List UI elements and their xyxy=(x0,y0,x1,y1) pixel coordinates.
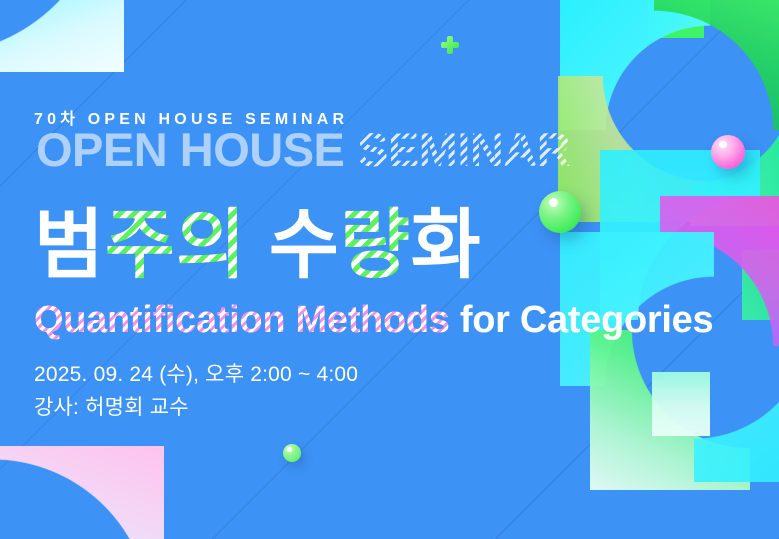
detail-instructor: 강사: 허명회 교수 xyxy=(34,391,358,424)
detail-datetime: 2025. 09. 24 (수), 오후 2:00 ~ 4:00 xyxy=(34,358,358,391)
wordmark: OPEN HOUSE SEMINAR xyxy=(36,126,570,173)
seminar-details: 2025. 09. 24 (수), 오후 2:00 ~ 4:00 강사: 허명회… xyxy=(34,358,358,424)
headline-en-solid: for Categories xyxy=(450,299,714,341)
headline-ko-striped-1: 주의 xyxy=(105,203,247,288)
seminar-poster: 70차 OPEN HOUSE SEMINAR OPEN HOUSE SEMINA… xyxy=(0,0,779,539)
wordmark-striped: SEMINAR xyxy=(357,123,570,176)
poster-content: 70차 OPEN HOUSE SEMINAR OPEN HOUSE SEMINA… xyxy=(34,0,734,539)
wordmark-space xyxy=(344,123,357,176)
headline-ko-solid-2: 수 xyxy=(269,203,340,288)
headline-korean: 범주의 수량화 xyxy=(34,208,482,284)
wordmark-solid: OPEN HOUSE xyxy=(36,123,344,176)
headline-english: Quantification Methods for Categories xyxy=(34,301,713,339)
headline-ko-solid-3: 화 xyxy=(411,203,482,288)
headline-en-striped: Quantification Methods xyxy=(34,299,450,341)
headline-ko-solid-1: 범 xyxy=(34,203,105,288)
headline-ko-space xyxy=(247,203,269,288)
rosette-petal-right-wedge xyxy=(742,250,779,320)
headline-ko-striped-2: 량 xyxy=(340,203,411,288)
